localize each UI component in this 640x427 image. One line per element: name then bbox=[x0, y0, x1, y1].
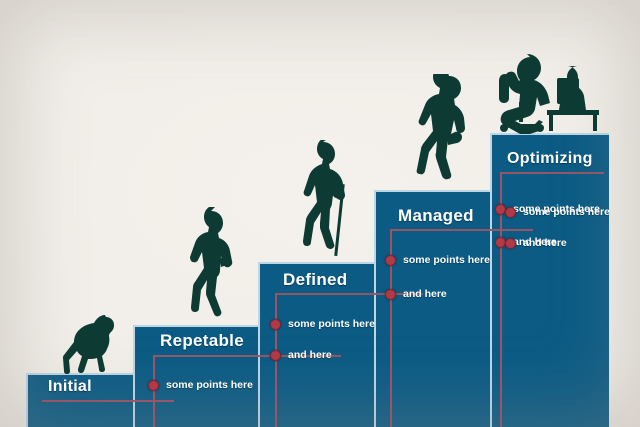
bullet-text: some points here bbox=[523, 206, 610, 218]
person-at-computer-desk-icon bbox=[495, 48, 607, 134]
connector-underline-optimizing bbox=[500, 172, 604, 174]
step-label-defined: Defined bbox=[283, 270, 347, 290]
step-label-repetable: Repetable bbox=[160, 331, 244, 351]
early-human-with-spear-icon bbox=[290, 140, 360, 264]
bullet-defined-1[interactable]: some points here bbox=[385, 254, 490, 266]
bullet-dot-icon bbox=[385, 289, 396, 300]
bullet-text: some points here bbox=[166, 379, 253, 391]
bullet-text: some points here bbox=[288, 318, 375, 330]
hominid-walking-icon bbox=[175, 207, 243, 327]
bullet-text: some points here bbox=[403, 254, 490, 266]
ape-knuckle-walking-icon bbox=[44, 303, 122, 375]
step-label-initial: Initial bbox=[48, 378, 92, 396]
step-block-optimizing[interactable] bbox=[490, 133, 609, 427]
bullet-text: and here bbox=[403, 288, 447, 300]
diagram-canvas: Initial Repetable Defined Managed Optimi… bbox=[0, 0, 640, 427]
bullet-dot-icon bbox=[270, 319, 281, 330]
bullet-repetable-1[interactable]: some points here bbox=[270, 318, 375, 330]
bullet-optimizing-1[interactable]: some points here bbox=[505, 206, 610, 218]
bullet-initial-1[interactable]: some points here bbox=[148, 379, 253, 391]
bullet-dot-icon bbox=[385, 255, 396, 266]
bullet-defined-2[interactable]: and here bbox=[385, 288, 447, 300]
connector-vline-repetable bbox=[153, 355, 155, 427]
bullet-text: and here bbox=[288, 349, 332, 361]
bullet-dot-icon bbox=[148, 380, 159, 391]
bullet-repetable-2[interactable]: and here bbox=[270, 349, 332, 361]
bullet-text: and here bbox=[523, 237, 567, 249]
step-label-managed: Managed bbox=[398, 206, 474, 226]
bullet-dot-icon bbox=[505, 238, 516, 249]
connector-underline-initial bbox=[42, 400, 174, 402]
bullet-dot-icon bbox=[270, 350, 281, 361]
bullet-dot-icon bbox=[505, 207, 516, 218]
modern-human-walking-icon bbox=[405, 74, 473, 192]
connector-underline-managed bbox=[390, 229, 533, 231]
step-label-optimizing: Optimizing bbox=[507, 150, 593, 168]
bullet-optimizing-2[interactable]: and here bbox=[505, 237, 567, 249]
